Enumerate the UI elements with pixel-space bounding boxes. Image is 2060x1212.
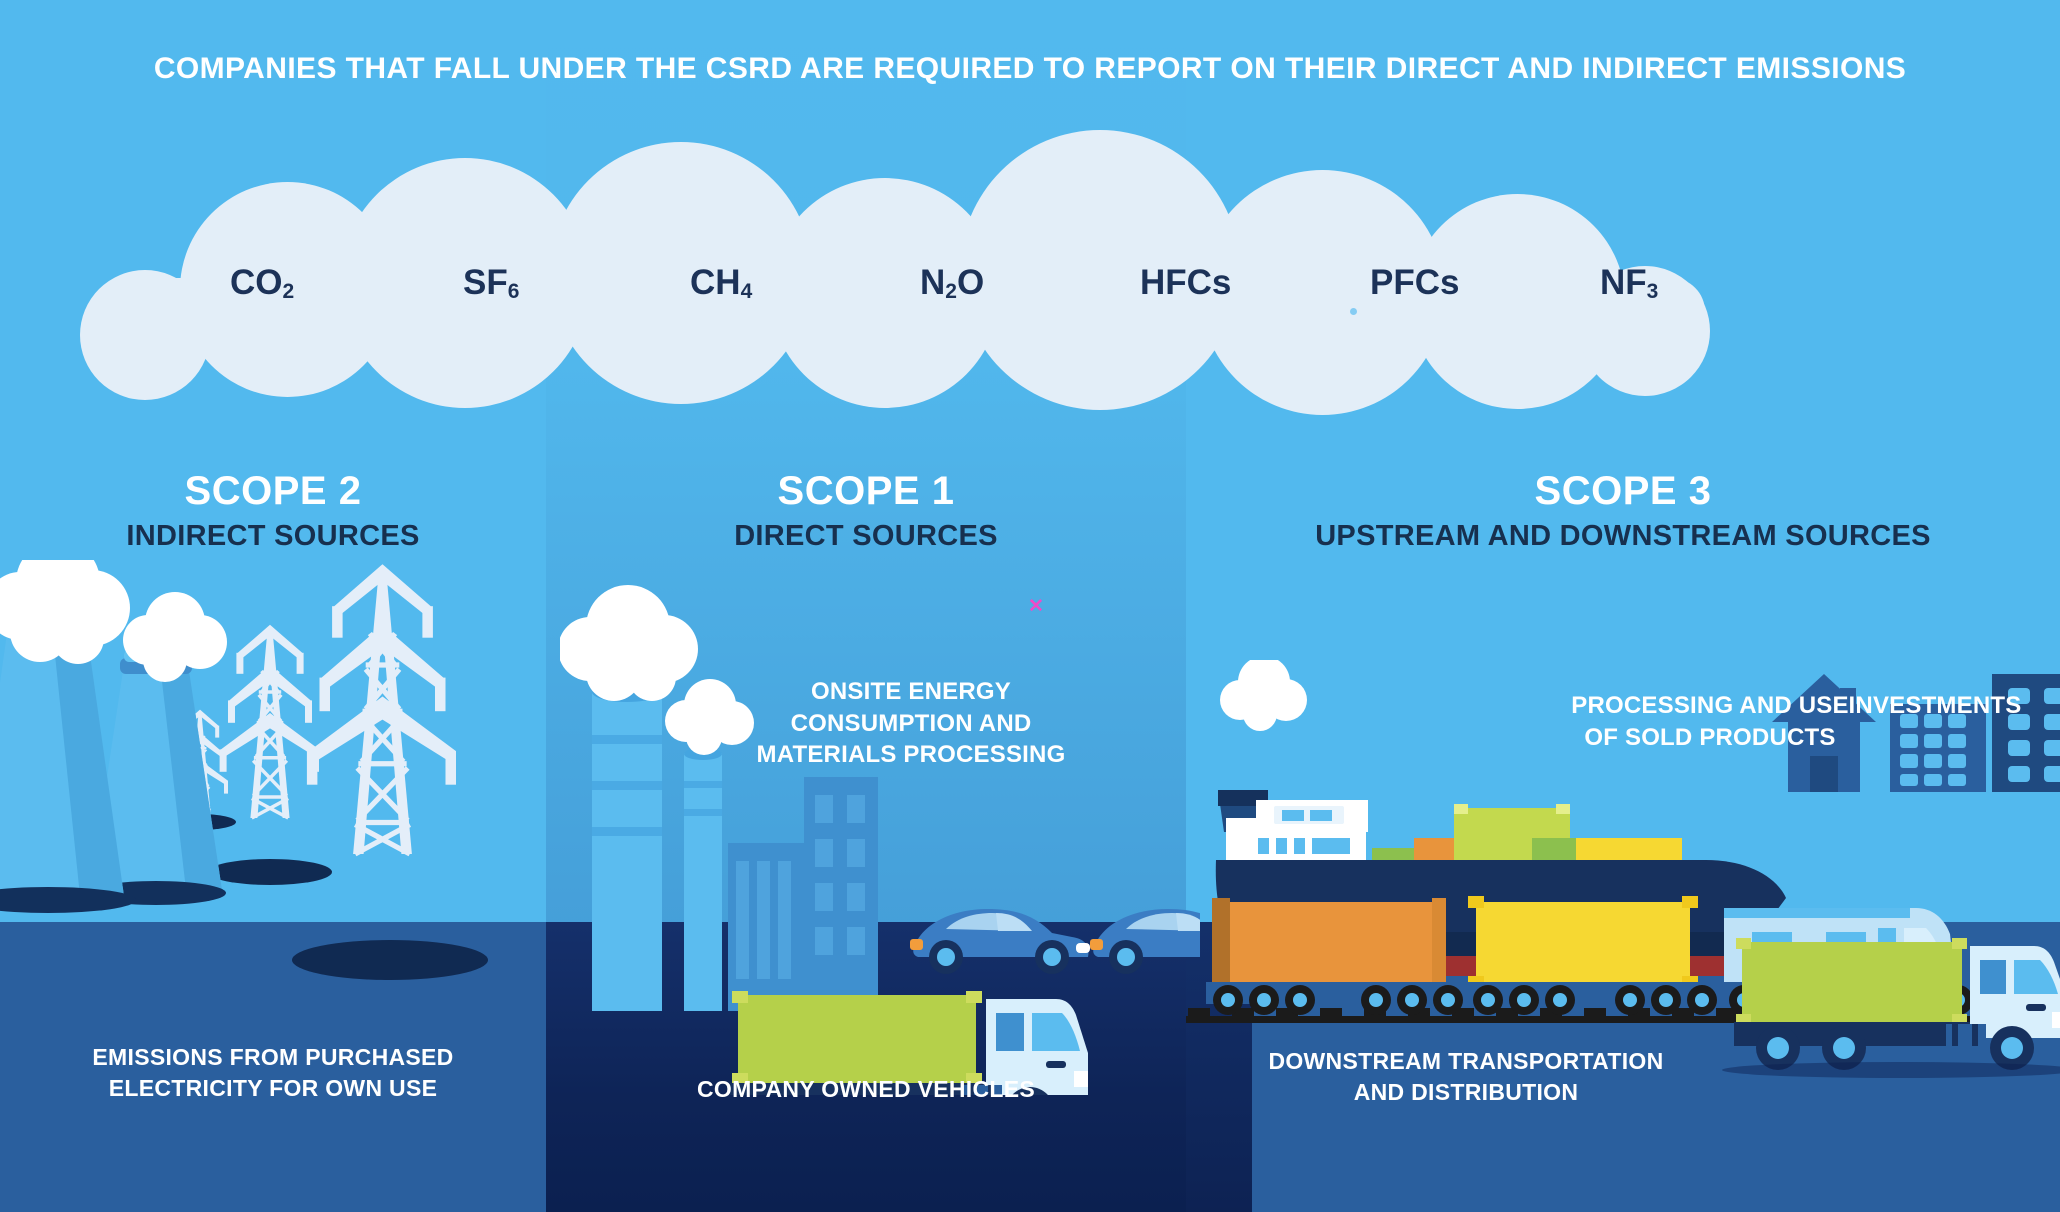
gas-label-co2: CO2 bbox=[230, 263, 294, 304]
gas-label-row: CO2 SF6 CH4 N2O HFCs PFCs NF3 bbox=[80, 120, 1720, 340]
gas-label-n2o: N2O bbox=[920, 263, 984, 304]
scope-2-caption-line-2: ELECTRICITY FOR OWN USE bbox=[0, 1073, 546, 1104]
gas-label-pfcs: PFCs bbox=[1370, 263, 1459, 303]
page-title: COMPANIES THAT FALL UNDER THE CSRD ARE R… bbox=[0, 52, 2060, 86]
scope-1-inline-label: ONSITE ENERGY CONSUMPTION AND MATERIALS … bbox=[736, 676, 1086, 771]
smoke-cloud-ship bbox=[1220, 660, 1307, 731]
infographic-canvas: COMPANIES THAT FALL UNDER THE CSRD ARE R… bbox=[0, 0, 2060, 1212]
factory-building bbox=[728, 777, 878, 1011]
scope-1-subtitle: DIRECT SOURCES bbox=[546, 520, 1186, 553]
scope-2-title: SCOPE 2 bbox=[0, 470, 546, 512]
pylon-shadow-mid bbox=[208, 859, 332, 885]
scope-2-caption: EMISSIONS FROM PURCHASED ELECTRICITY FOR… bbox=[0, 1042, 546, 1104]
scope-3-caption-line-2: AND DISTRIBUTION bbox=[1186, 1077, 1746, 1108]
scope2-illustration bbox=[0, 560, 560, 1030]
power-pylon-mid bbox=[220, 625, 319, 818]
pylon-shadow-large bbox=[292, 940, 488, 980]
smoke-cloud-large bbox=[0, 560, 130, 664]
scope-1-title: SCOPE 1 bbox=[546, 470, 1186, 512]
stray-dot-artifact bbox=[1350, 308, 1357, 315]
scope-2-heading: SCOPE 2 INDIRECT SOURCES bbox=[0, 470, 546, 553]
scope-3-caption-line-1: DOWNSTREAM TRANSPORTATION bbox=[1186, 1046, 1746, 1077]
car-2 bbox=[1090, 909, 1200, 974]
gas-label-sf6: SF6 bbox=[463, 263, 519, 304]
gas-label-nf3: NF3 bbox=[1600, 263, 1658, 304]
dump-truck-scope3 bbox=[1722, 938, 2060, 1078]
scope-3-subtitle: UPSTREAM AND DOWNSTREAM SOURCES bbox=[1186, 520, 2060, 553]
stray-x-artifact: ✕ bbox=[1028, 595, 1044, 618]
smokestack-large bbox=[592, 682, 662, 1011]
scope-2-subtitle: INDIRECT SOURCES bbox=[0, 520, 546, 553]
scope-1-inline-line-3: MATERIALS PROCESSING bbox=[736, 739, 1086, 771]
scope-3-title: SCOPE 3 bbox=[1186, 470, 2060, 512]
scope-3-heading: SCOPE 3 UPSTREAM AND DOWNSTREAM SOURCES bbox=[1186, 470, 2060, 553]
scope-1-inline-line-1: ONSITE ENERGY bbox=[736, 676, 1086, 708]
scope-1-caption: COMPANY OWNED VEHICLES bbox=[546, 1074, 1186, 1105]
scope-3-investments-label: INVESTMENTS bbox=[1820, 690, 2050, 722]
scope-1-caption-line-1: COMPANY OWNED VEHICLES bbox=[546, 1074, 1186, 1105]
smokestack-small bbox=[684, 748, 722, 1011]
scope-2-caption-line-1: EMISSIONS FROM PURCHASED bbox=[0, 1042, 546, 1073]
gas-label-ch4: CH4 bbox=[690, 263, 752, 304]
car-1 bbox=[910, 909, 1090, 974]
scope-1-heading: SCOPE 1 DIRECT SOURCES bbox=[546, 470, 1186, 553]
investments-label-text: INVESTMENTS bbox=[1820, 690, 2050, 722]
power-pylon-large bbox=[307, 564, 456, 854]
scope-3-caption: DOWNSTREAM TRANSPORTATION AND DISTRIBUTI… bbox=[1186, 1046, 1746, 1108]
header: COMPANIES THAT FALL UNDER THE CSRD ARE R… bbox=[0, 52, 2060, 86]
scope1-illustration bbox=[560, 585, 1200, 1095]
smoke-cloud-stack-large bbox=[560, 585, 698, 701]
scope-3-inline-line-2: OF SOLD PRODUCTS bbox=[1500, 722, 1920, 754]
scope-1-inline-line-2: CONSUMPTION AND bbox=[736, 708, 1086, 740]
gas-label-hfcs: HFCs bbox=[1140, 263, 1231, 303]
